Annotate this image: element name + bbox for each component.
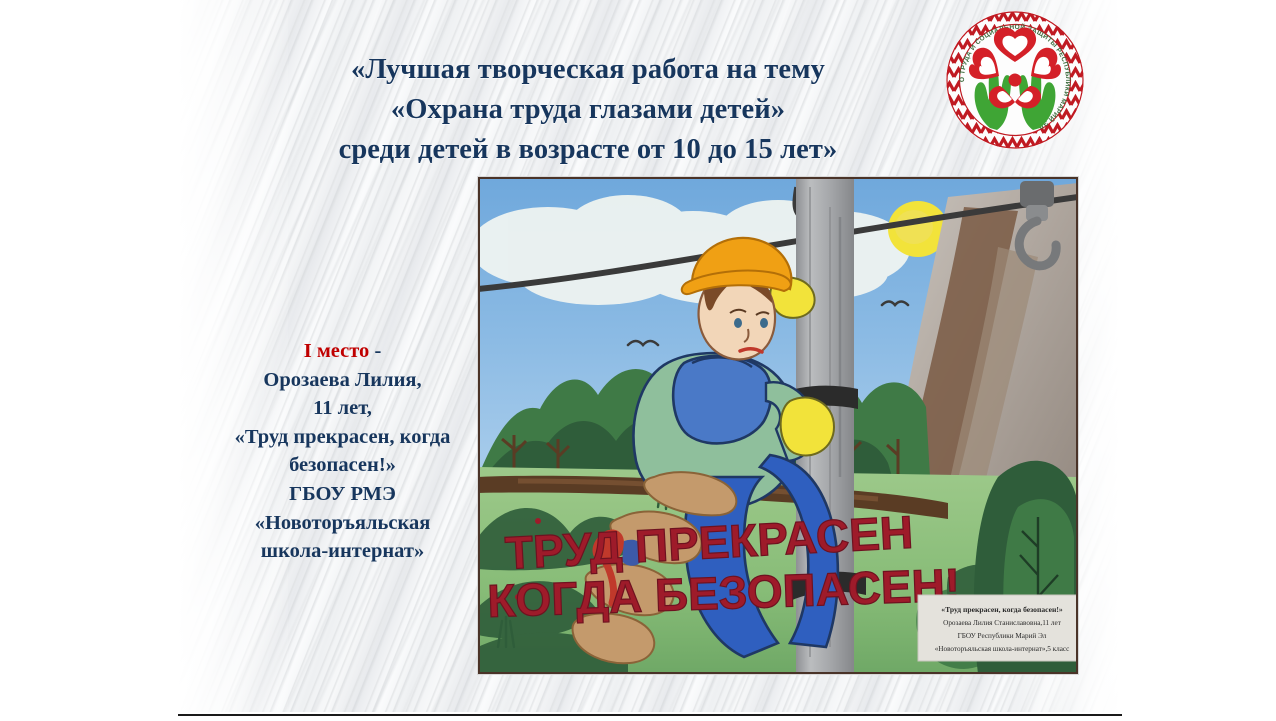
slide-title: «Лучшая творческая работа на тему «Охран…: [238, 50, 938, 170]
title-line-3: среди детей в возрасте от 10 до 15 лет»: [238, 130, 938, 170]
award-line-age: 11 лет,: [215, 394, 470, 423]
artwork-label: «Труд прекрасен, когда безопасен!» Ороза…: [918, 595, 1078, 661]
award-dash: -: [369, 340, 381, 362]
title-line-1: «Лучшая творческая работа на тему: [238, 50, 938, 90]
award-line-org-3: школа-интернат»: [215, 537, 470, 566]
slide-bottom-rule: [178, 714, 1122, 716]
artwork-label-line-4: «Новоторъяльская школа-интернат»,5 класс: [935, 645, 1070, 653]
artwork-photo: ТРУД ПРЕКРАСЕН КОГДА БЕЗОПАСЕН! «Труд пр…: [478, 177, 1078, 674]
award-line-worktitle-1: «Труд прекрасен, когда: [215, 423, 470, 452]
presentation-slide: «Лучшая творческая работа на тему «Охран…: [0, 0, 1276, 721]
artwork-label-line-1: «Труд прекрасен, когда безопасен!»: [941, 605, 1063, 614]
award-caption: I место - Орозаева Лилия, 11 лет, «Труд …: [215, 337, 470, 566]
artwork-label-line-3: ГБОУ Республики Марий Эл: [958, 632, 1047, 640]
award-line-org-2: «Новоторъяльская: [215, 509, 470, 538]
award-place-line: I место -: [215, 337, 470, 366]
award-line-worktitle-2: безопасен!»: [215, 451, 470, 480]
artwork-poster-text: ТРУД ПРЕКРАСЕН КОГДА БЕЗОПАСЕН!: [487, 506, 961, 627]
title-line-2: «Охрана труда глазами детей»: [238, 90, 938, 130]
award-line-org-1: ГБОУ РМЭ: [215, 480, 470, 509]
artwork-label-line-2: Орозаева Лилия Станиславовна,11 лет: [943, 619, 1062, 627]
award-line-author: Орозаева Лилия,: [215, 366, 470, 395]
ministry-logo: МИНИСТЕРСТВО ТРУДА И СОЦИАЛЬНОЙ ЗАЩИТЫ Р…: [945, 10, 1085, 150]
award-place: I место: [304, 340, 370, 362]
